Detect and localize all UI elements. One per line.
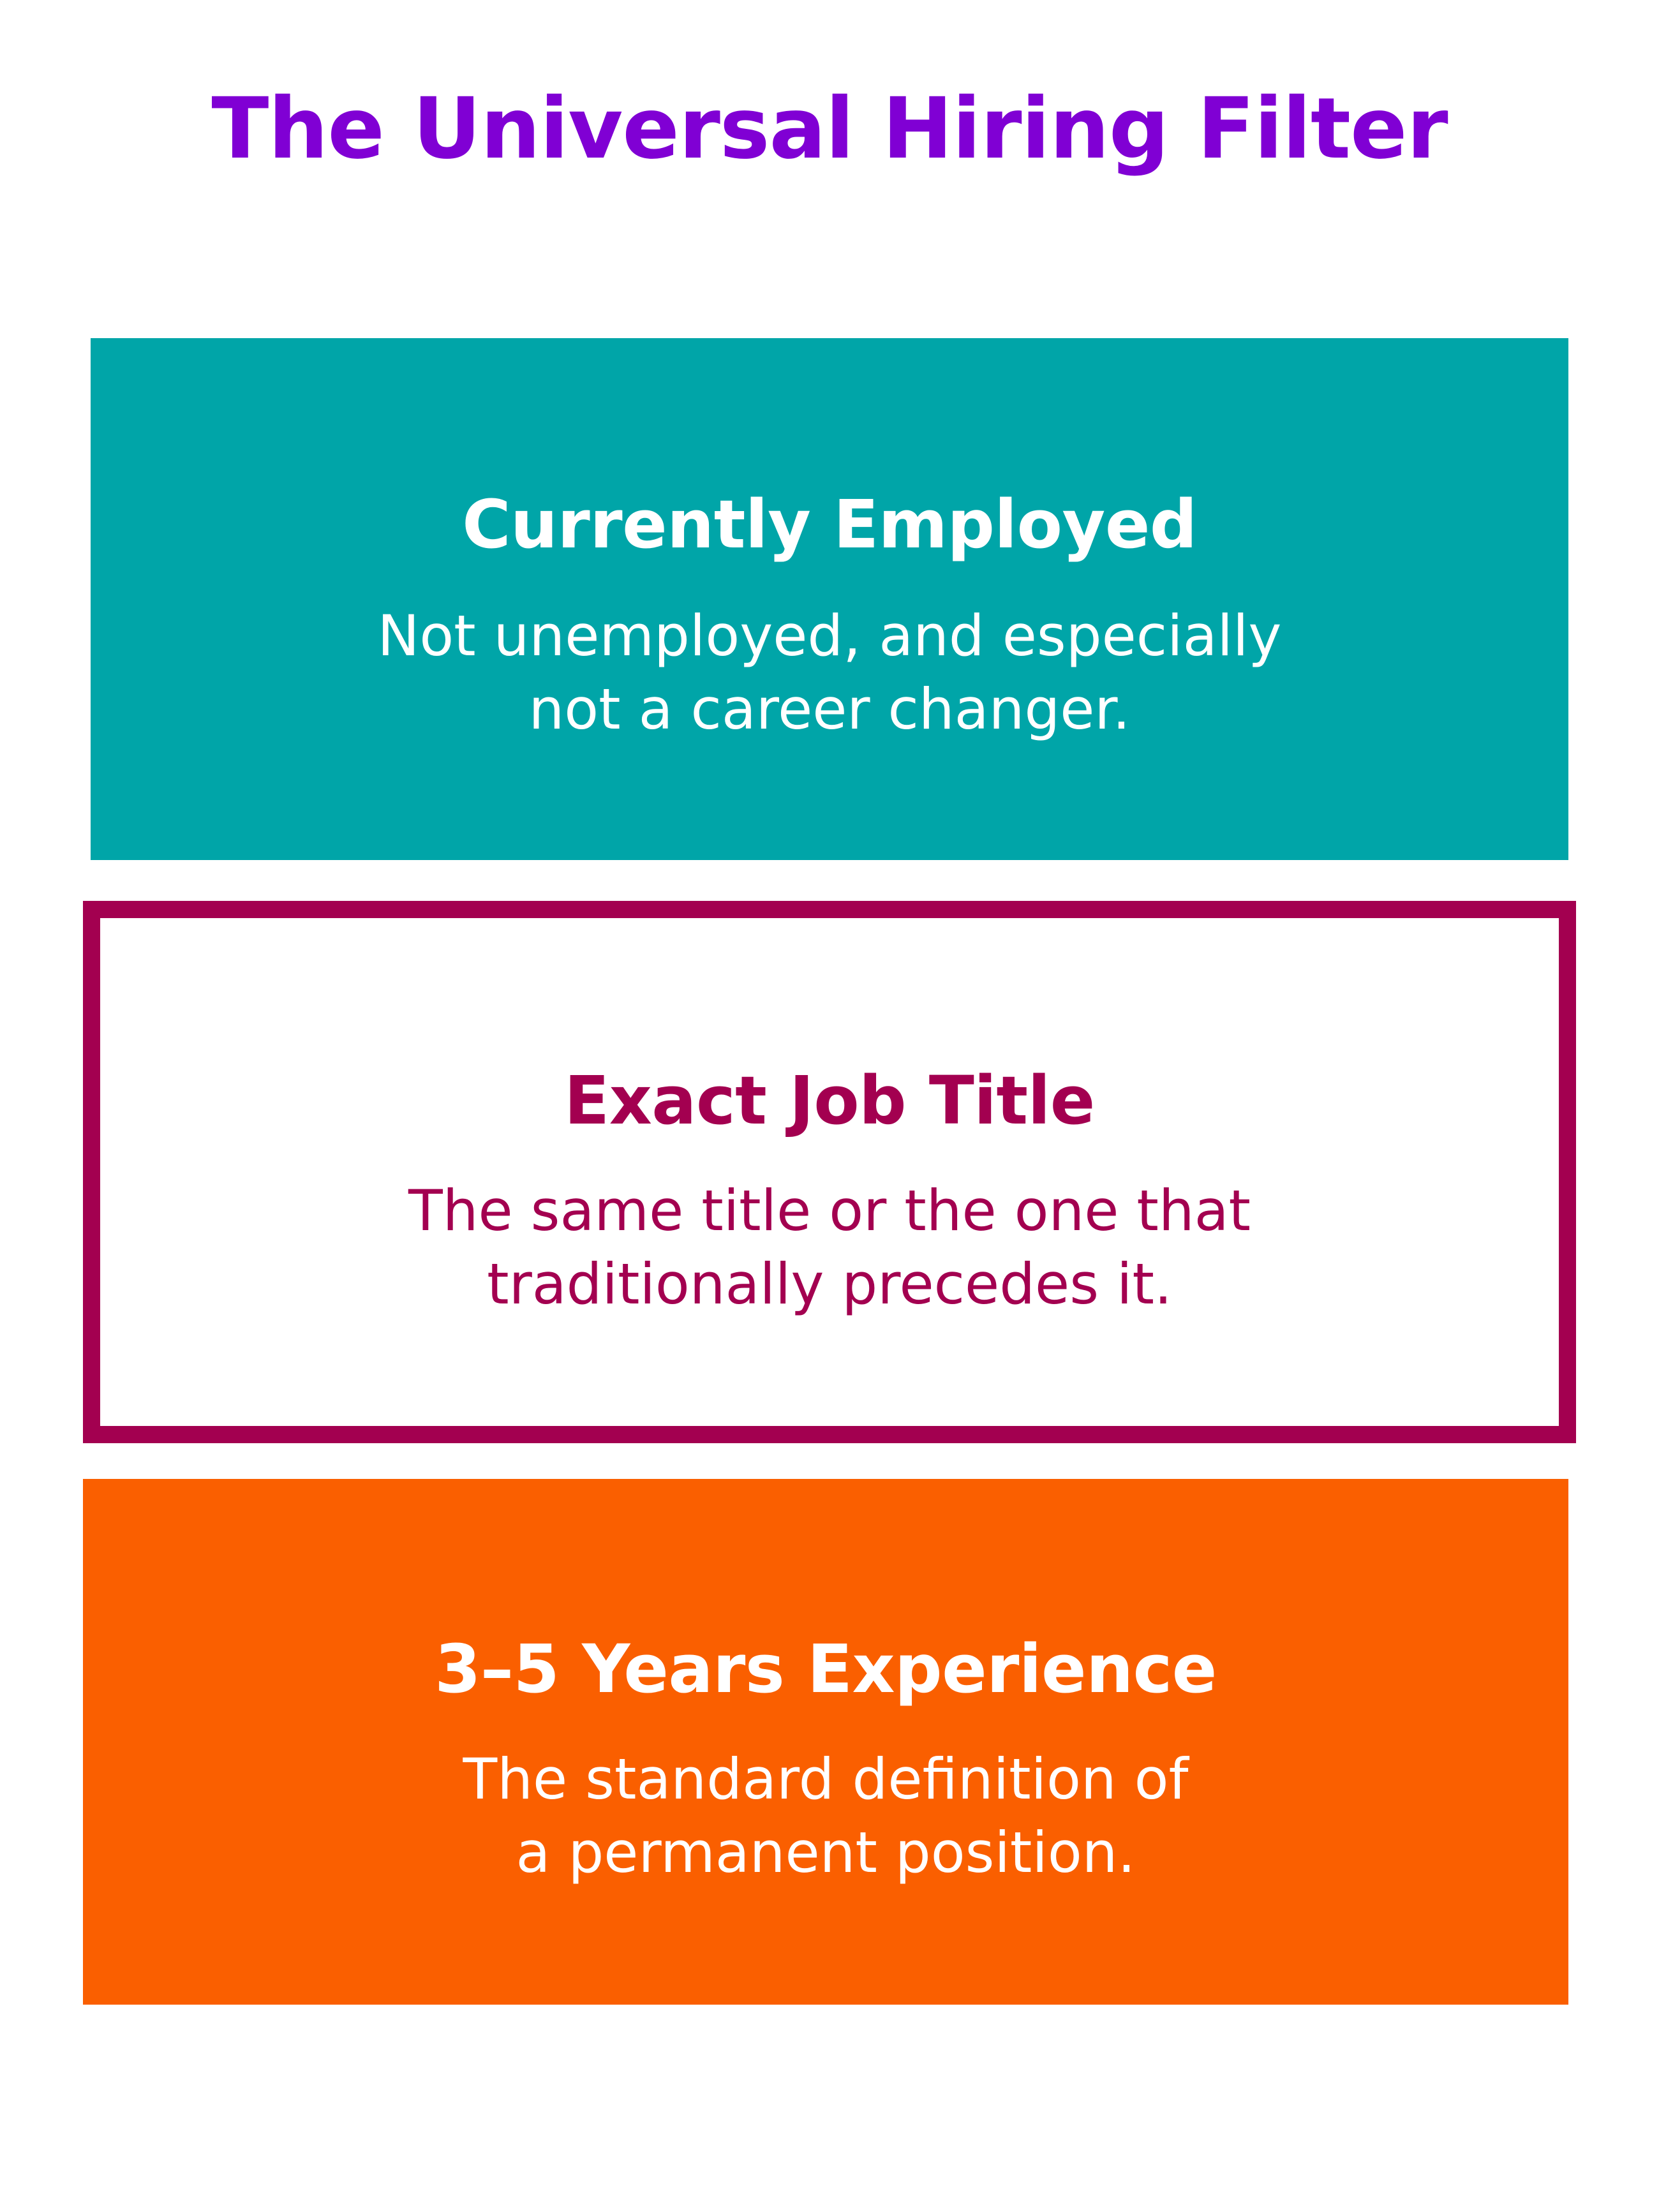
infographic-page: The Universal Hiring Filter Currently Em…	[0, 0, 1659, 2212]
card-body-exact-job-title: The same title or the one that tradition…	[408, 1175, 1251, 1321]
card-currently-employed: Currently Employed Not unemployed, and e…	[91, 338, 1568, 860]
card-heading-years-experience: 3–5 Years Experience	[435, 1631, 1217, 1708]
card-exact-job-title: Exact Job Title The same title or the on…	[83, 901, 1576, 1443]
page-title: The Universal Hiring Filter	[0, 77, 1659, 182]
card-heading-currently-employed: Currently Employed	[462, 487, 1197, 563]
card-years-experience: 3–5 Years Experience The standard defini…	[83, 1479, 1568, 2005]
card-heading-exact-job-title: Exact Job Title	[564, 1063, 1095, 1139]
card-body-years-experience: The standard definition of a permanent p…	[463, 1743, 1189, 1889]
card-body-currently-employed: Not unemployed, and especially not a car…	[378, 600, 1282, 746]
